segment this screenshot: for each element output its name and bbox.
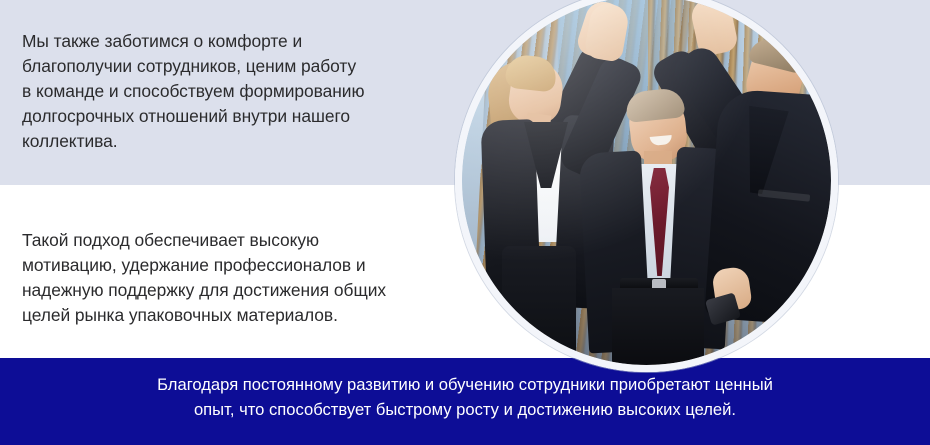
photo-scene (462, 0, 831, 365)
paragraph-care-and-wellbeing: Мы также заботимся о комфорте и благопол… (22, 29, 422, 154)
paragraph-motivation-and-retention: Такой подход обеспечивает высокую мотива… (22, 228, 434, 328)
woman-trousers (502, 246, 576, 365)
team-photo-circle (455, 0, 838, 372)
slide-root: Мы также заботимся о комфорте и благопол… (0, 0, 930, 445)
centre-man-trousers (612, 288, 704, 365)
bottom-banner-caption: Благодаря постоянному развитию и обучени… (0, 372, 930, 422)
team-photo-image (462, 0, 831, 365)
